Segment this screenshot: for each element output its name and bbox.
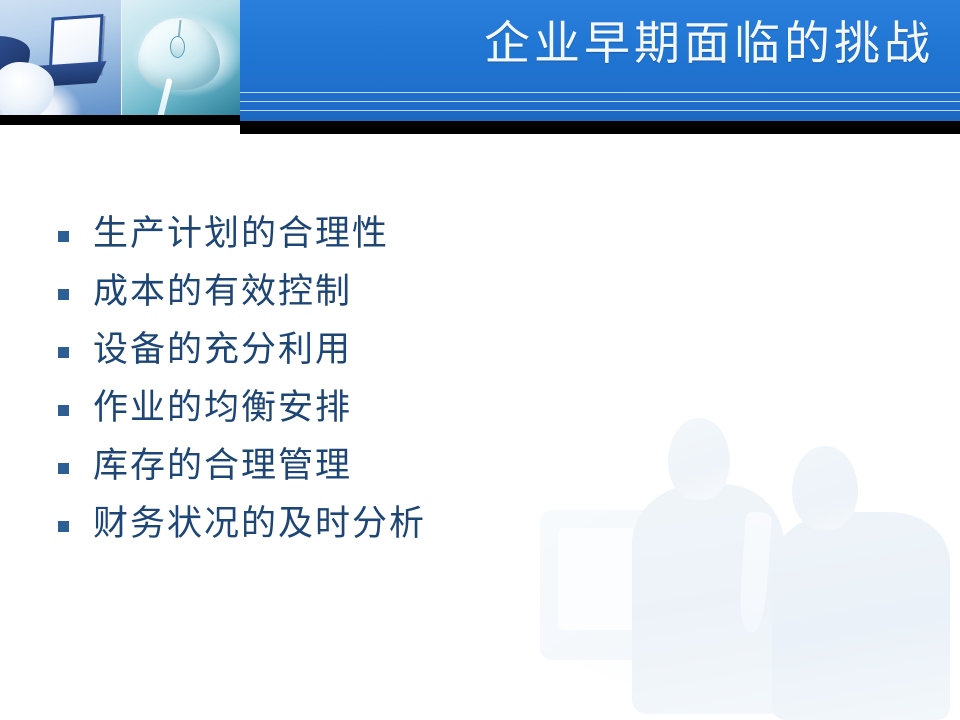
list-item: 成本的有效控制: [58, 263, 618, 321]
list-item: 库存的合理管理: [58, 437, 618, 495]
laptop-computer-photo: [0, 0, 122, 115]
title-band: 企业早期面临的挑战: [240, 0, 960, 121]
list-item-label: 设备的充分利用: [93, 328, 352, 372]
list-item: 设备的充分利用: [58, 321, 618, 379]
page-title: 企业早期面临的挑战: [484, 12, 934, 74]
list-item-label: 财务状况的及时分析: [93, 502, 426, 546]
list-item: 生产计划的合理性: [58, 205, 618, 263]
list-item: 财务状况的及时分析: [58, 495, 618, 553]
square-bullet-icon: [58, 405, 69, 416]
computer-mouse-photo: [122, 0, 240, 115]
slide-header: 企业早期面临的挑战: [0, 0, 960, 136]
square-bullet-icon: [58, 347, 69, 358]
header-rule-right: [240, 121, 960, 134]
square-bullet-icon: [58, 521, 69, 532]
presentation-slide: 企业早期面临的挑战 生产计划的合理性 成本的有效控制 设备的充分利用: [0, 0, 960, 720]
header-divider-line-2: [240, 101, 960, 102]
list-item: 作业的均衡安排: [58, 379, 618, 437]
watermark-person-b-body: [772, 512, 950, 720]
square-bullet-icon: [58, 231, 69, 242]
square-bullet-icon: [58, 289, 69, 300]
header-divider-line-3: [240, 110, 960, 111]
laptop-hand-shape: [0, 62, 54, 115]
watermark-person-b-head: [792, 446, 858, 530]
list-item-label: 库存的合理管理: [93, 444, 352, 488]
header-photo-strip: [0, 0, 240, 115]
header-rule-left: [0, 115, 240, 125]
list-item-label: 作业的均衡安排: [93, 386, 352, 430]
watermark-person-a-head: [668, 418, 730, 500]
header-divider-line-1: [240, 92, 960, 93]
list-item-label: 成本的有效控制: [93, 270, 352, 314]
bullet-list: 生产计划的合理性 成本的有效控制 设备的充分利用 作业的均衡安排 库存的合理管理…: [58, 205, 618, 553]
square-bullet-icon: [58, 463, 69, 474]
list-item-label: 生产计划的合理性: [93, 212, 389, 256]
